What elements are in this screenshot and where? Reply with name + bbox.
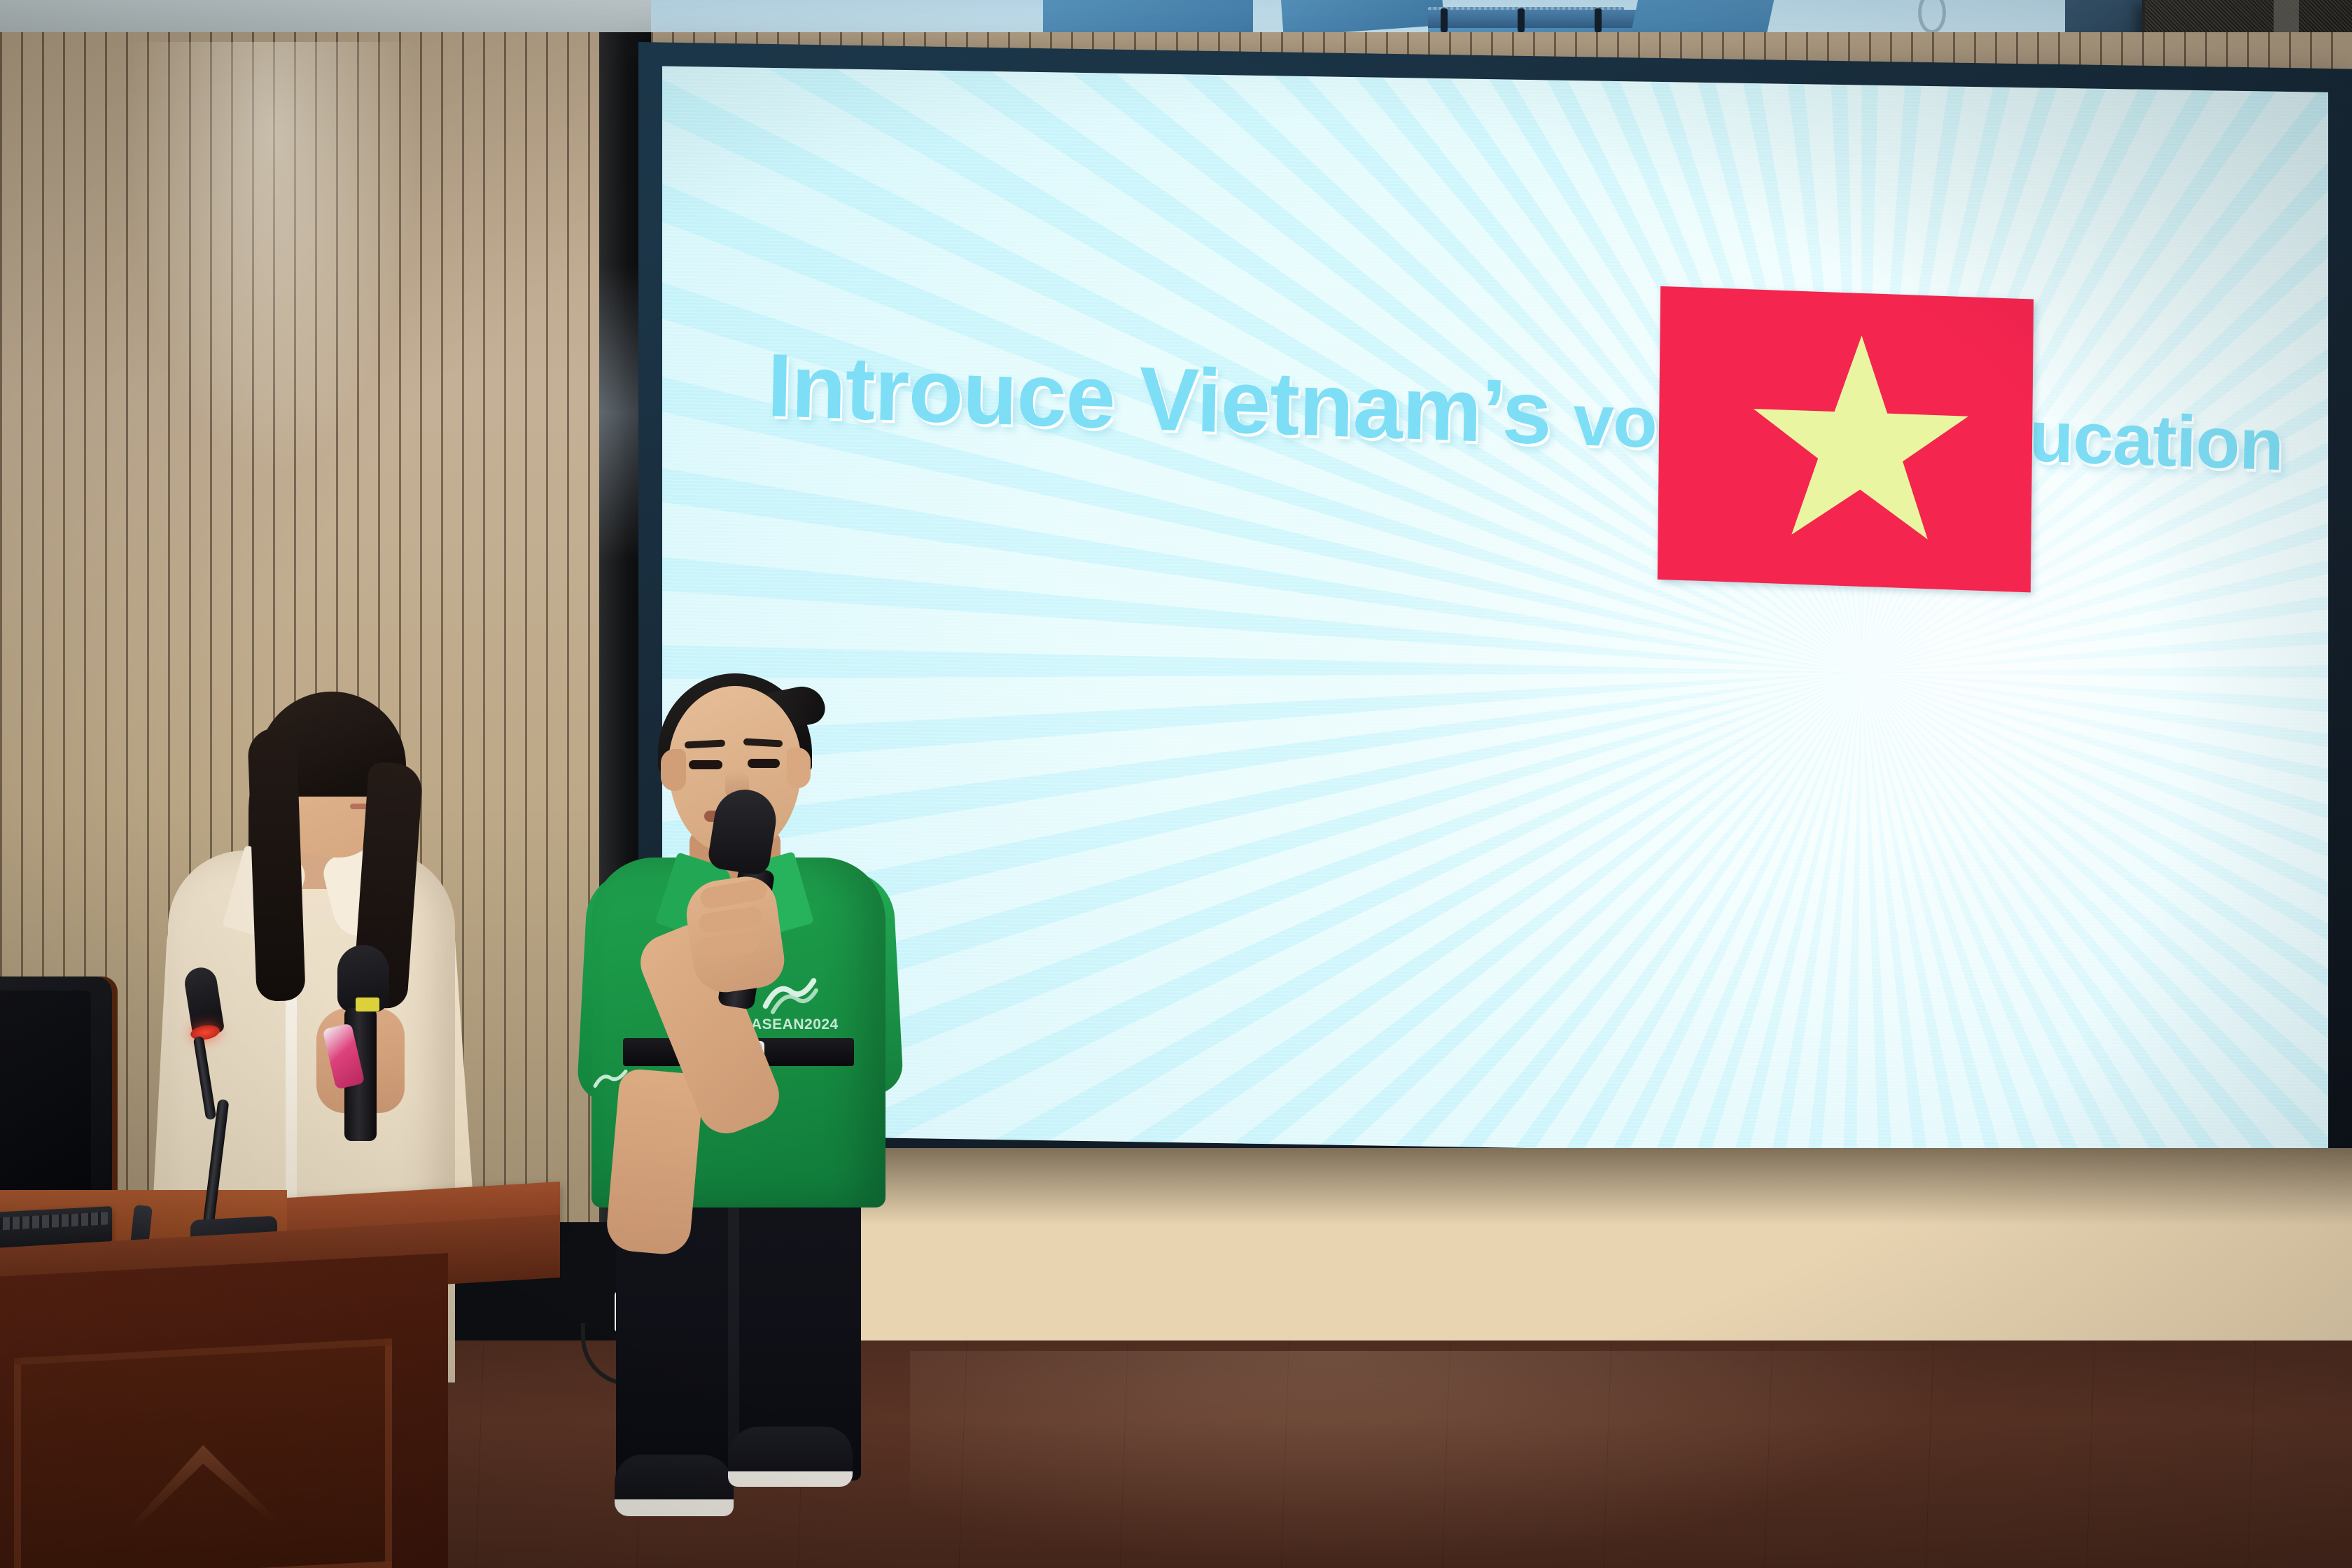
- presenter-eye-left: [689, 760, 722, 769]
- floor-reflection: [910, 1351, 1960, 1561]
- desktop-monitor[interactable]: [0, 990, 91, 1200]
- presenter-eye-right: [748, 759, 780, 768]
- shirt-logo-text: ASEAN2024: [751, 1016, 839, 1033]
- assistant-hair-left-strand: [247, 727, 306, 1002]
- wainscot-shadow: [651, 1148, 2352, 1225]
- flag-star-icon: [1747, 327, 1973, 559]
- projection-screen[interactable]: Introuce Vietnam’s vocational education: [662, 66, 2328, 1161]
- vietnam-flag: [1658, 286, 2033, 592]
- screen-scanlines: [662, 66, 2328, 1161]
- screenshot-root: Introuce Vietnam’s vocational education: [0, 0, 2352, 1568]
- presenter-ear-left: [661, 749, 686, 791]
- presenter-ear-right: [787, 748, 811, 788]
- presenter-left-arm: [605, 1067, 704, 1256]
- presenter-shoe-right: [728, 1427, 853, 1487]
- presenter-shoe-left: [615, 1455, 734, 1516]
